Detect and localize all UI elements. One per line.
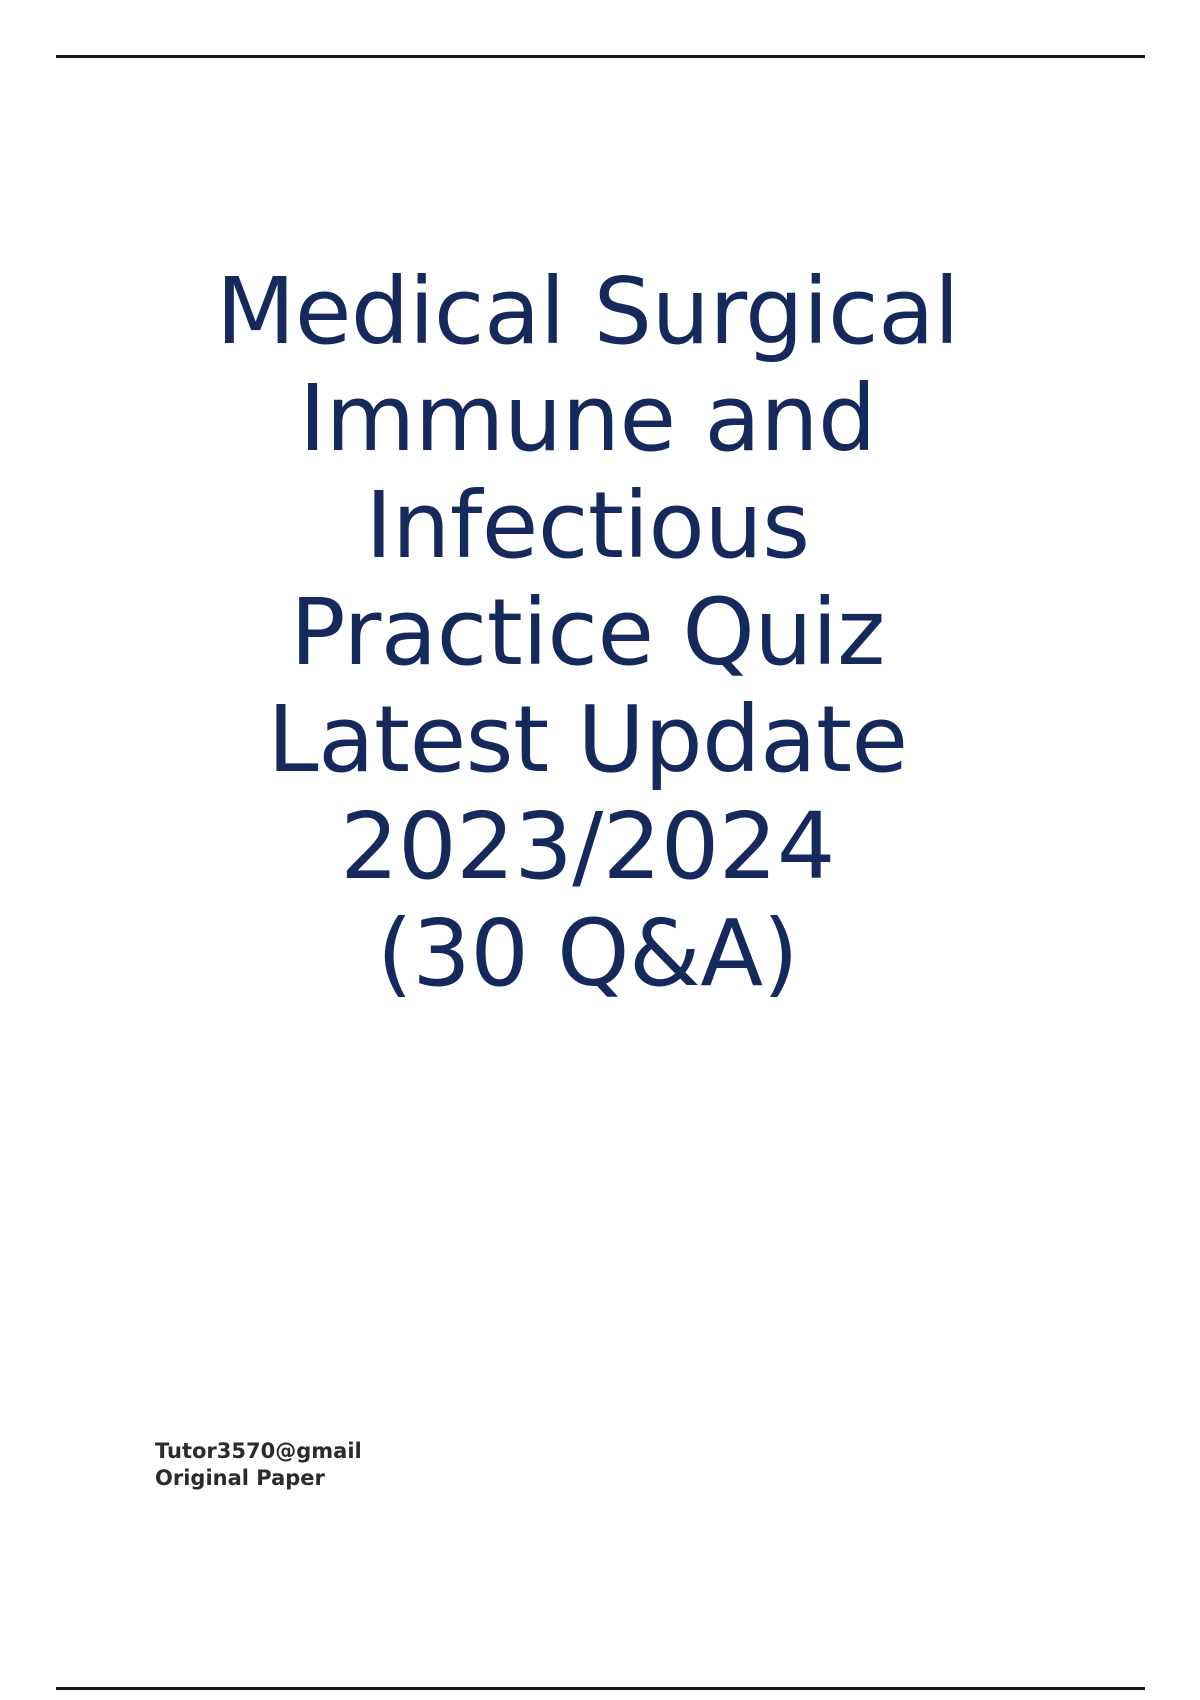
author-credit-block: Tutor3570@gmail Original Paper	[155, 1438, 655, 1492]
title-line-3: Infectious	[60, 472, 1115, 579]
title-line-7: (30 Q&A)	[60, 900, 1115, 1007]
document-page: Medical Surgical Immune and Infectious P…	[0, 0, 1200, 1700]
paper-origin-label: Original Paper	[155, 1465, 655, 1492]
title-line-2: Immune and	[60, 365, 1115, 472]
document-title: Medical Surgical Immune and Infectious P…	[60, 258, 1115, 1007]
title-line-4: Practice Quiz	[60, 579, 1115, 686]
title-line-1: Medical Surgical	[60, 258, 1115, 365]
footer-divider-rule	[56, 1687, 1145, 1690]
title-line-6: 2023/2024	[60, 793, 1115, 900]
title-line-5: Latest Update	[60, 686, 1115, 793]
contact-email: Tutor3570@gmail	[155, 1438, 655, 1465]
header-divider-rule	[56, 55, 1145, 58]
